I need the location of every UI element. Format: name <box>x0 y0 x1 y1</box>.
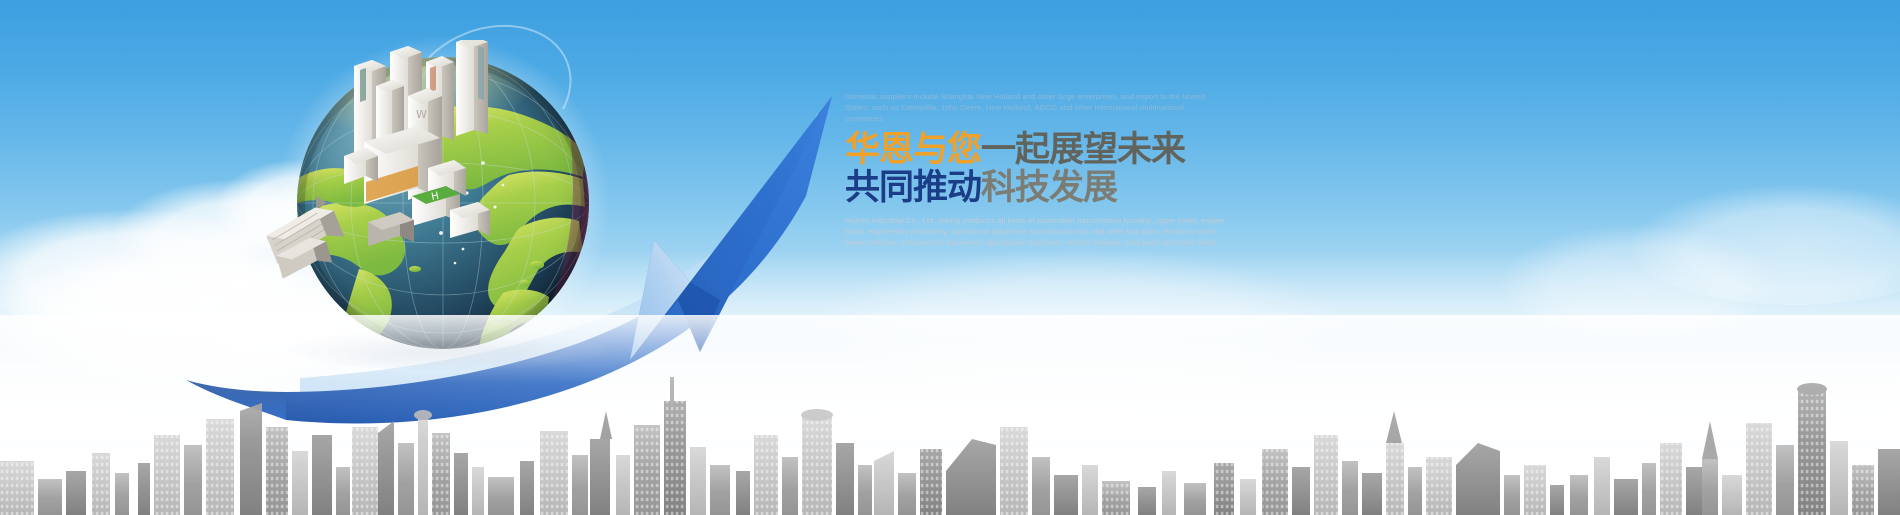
intro-paragraph: Domestic suppliers include Shanghai New … <box>845 92 1225 124</box>
headline-line-1-rest: 一起展望未来 <box>981 130 1185 170</box>
headline: 华恩与您一起展望未来 共同推动科技发展 <box>845 133 1225 206</box>
banner-copy-block: Domestic suppliers include Shanghai New … <box>845 92 1225 249</box>
svg-text:W: W <box>416 108 427 121</box>
body-paragraph: Hua'en Industrial Co., Ltd. mainly produ… <box>845 216 1225 248</box>
headline-line-1: 华恩与您一起展望未来 <box>845 133 1225 168</box>
globe-left-limb-buildings <box>265 192 385 282</box>
hero-banner: W <box>0 0 1900 515</box>
headline-line-1-highlight: 华恩与您 <box>845 130 981 170</box>
headline-line-2-highlight: 共同推动 <box>845 168 981 208</box>
headline-line-2: 共同推动科技发展 <box>845 171 1225 206</box>
headline-line-2-rest: 科技发展 <box>981 168 1117 208</box>
